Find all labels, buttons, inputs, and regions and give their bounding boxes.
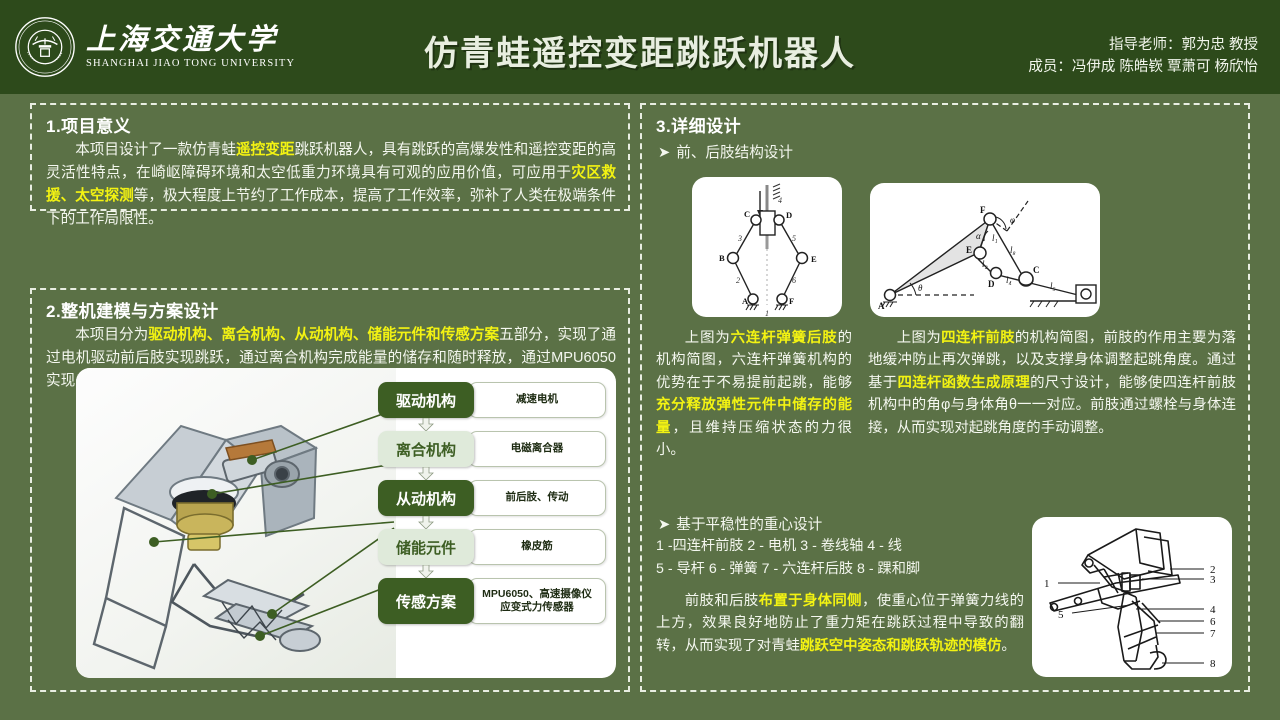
bullet-2-label: 基于平稳性的重心设计 <box>676 517 822 533</box>
svg-text:A: A <box>742 296 749 306</box>
svg-text:F: F <box>789 296 794 306</box>
s3-bottom-c: 。 <box>1001 638 1015 654</box>
flow-row-4: 储能元件 橡皮筋 <box>378 529 606 565</box>
leg-assembly-diagram: 1 2 3 4 5 6 7 8 <box>1032 517 1232 677</box>
leg-callout-6: 6 <box>1210 616 1216 628</box>
s3-bottom-hl1: 布置于身体同侧 <box>759 593 862 609</box>
bullet-arrow-icon-2: ➤ <box>658 517 670 533</box>
s3-right-hl1: 四连杆前肢 <box>941 330 1015 346</box>
svg-text:l₁: l₁ <box>992 233 998 243</box>
svg-text:E: E <box>966 245 972 255</box>
section-2-heading: 2.整机建模与方案设计 <box>32 290 628 322</box>
leg-callout-4: 4 <box>1210 604 1216 616</box>
section-3-bullet-2: ➤基于平稳性的重心设计 <box>642 509 822 534</box>
six-bar-drawing: CD BE AF 4 35 26 1 <box>692 177 842 317</box>
leg-callout-3: 3 <box>1210 574 1216 586</box>
credits-block: 指导老师：郭为忠 教授 成员：冯伊成 陈皓嵚 覃萧可 杨欣怡 <box>1028 34 1258 79</box>
section-1-body: 本项目设计了一款仿青蛙遥控变距跳跃机器人，具有跳跃的高爆发性和遥控变距的高灵活性… <box>32 137 628 231</box>
svg-text:α: α <box>976 231 981 241</box>
s3-bottom-hl2: 跳跃空中姿态和跳跃轨迹的模仿 <box>800 638 1001 654</box>
flow-stage-detail-3: 前后肢、传动 <box>468 480 606 516</box>
svg-text:C: C <box>1033 265 1040 275</box>
svg-text:2: 2 <box>736 276 740 285</box>
section-3-panel: 3.详细设计 ➤前、后肢结构设计 <box>640 103 1250 692</box>
svg-text:φ: φ <box>1010 215 1015 225</box>
system-flowchart: 驱动机构 减速电机 离合机构 电磁离合器 从动机构 前后肢、传动 <box>378 382 606 637</box>
robot-render-drawing <box>76 368 396 678</box>
svg-text:E: E <box>811 254 817 264</box>
flow-arrow-icon-2 <box>418 467 434 480</box>
svg-text:5: 5 <box>792 234 796 243</box>
svg-text:θ: θ <box>918 283 923 293</box>
svg-text:C: C <box>744 209 750 219</box>
svg-text:4: 4 <box>778 196 782 205</box>
flow-arrow-icon-4 <box>418 565 434 578</box>
s1-text-a: 本项目设计了一款仿青蛙 <box>75 142 236 158</box>
section-1-heading: 1.项目意义 <box>32 105 628 137</box>
advisor-line: 指导老师：郭为忠 教授 <box>1028 34 1258 56</box>
s3-left-a: 上图为 <box>685 330 731 346</box>
university-logo: 上海交通大学 SHANGHAI JIAO TONG UNIVERSITY <box>0 16 295 78</box>
six-bar-description: 上图为六连杆弹簧后肢的机构简图，六连杆弹簧机构的优势在于不易提前起跳，能够充分释… <box>656 327 852 462</box>
four-bar-drawing: A F E D C φ θ α l₁ l₂ l₄ l₅ l₈ <box>870 183 1100 317</box>
sjtu-seal-icon <box>14 16 76 78</box>
section-3-bullet-1: ➤前、后肢结构设计 <box>642 137 1248 162</box>
svg-text:D: D <box>786 210 792 220</box>
poster-header: 上海交通大学 SHANGHAI JIAO TONG UNIVERSITY 仿青蛙… <box>0 0 1280 94</box>
flow-row-3: 从动机构 前后肢、传动 <box>378 480 606 516</box>
leg-callout-7: 7 <box>1210 628 1216 640</box>
leg-callout-8: 8 <box>1210 658 1216 670</box>
robot-3d-render <box>76 368 396 678</box>
svg-text:A: A <box>878 301 885 311</box>
s3-right-hl2: 四连杆函数生成原理 <box>897 375 1030 391</box>
flow-stage-name-5: 传感方案 <box>378 578 474 624</box>
flow-row-5: 传感方案 MPU6050、高速摄像仪 应变式力传感器 <box>378 578 606 624</box>
bullet-1-label: 前、后肢结构设计 <box>676 145 793 161</box>
poster-root: 上海交通大学 SHANGHAI JIAO TONG UNIVERSITY 仿青蛙… <box>0 0 1280 720</box>
svg-text:3: 3 <box>737 234 742 243</box>
flow-stage-detail-1: 减速电机 <box>468 382 606 418</box>
s3-right-a: 上图为 <box>897 330 941 346</box>
section-2-panel: 2.整机建模与方案设计 本项目分为驱动机构、离合机构、从动机构、储能元件和传感方… <box>30 288 630 692</box>
s2-text-a: 本项目分为 <box>75 327 148 343</box>
members-line: 成员：冯伊成 陈皓嵚 覃萧可 杨欣怡 <box>1028 56 1258 78</box>
flow-stage-detail-2: 电磁离合器 <box>468 431 606 467</box>
s1-highlight-1: 遥控变距 <box>236 142 294 158</box>
four-bar-description: 上图为四连杆前肢的机构简图，前肢的作用主要为落地缓冲防止再次弹跳，以及支撑身体调… <box>868 327 1236 439</box>
flow-stage-name-2: 离合机构 <box>378 431 474 467</box>
legend-line-1: 1 -四连杆前肢 2 - 电机 3 - 卷线轴 4 - 线 <box>656 535 1024 558</box>
flow-row-1: 驱动机构 减速电机 <box>378 382 606 418</box>
six-bar-linkage-diagram: CD BE AF 4 35 26 1 <box>692 177 842 317</box>
s3-left-c: ，且维持压缩状态的力很小。 <box>656 420 852 458</box>
legend-line-2: 5 - 导杆 6 - 弹簧 7 - 六连杆后肢 8 - 踝和脚 <box>656 558 1024 581</box>
s3-left-hl1: 六连杆弹簧后肢 <box>731 330 838 346</box>
svg-text:F: F <box>980 205 986 215</box>
s3-bottom-a: 前肢和后肢 <box>685 593 759 609</box>
flow-stage-name-3: 从动机构 <box>378 480 474 516</box>
flow-arrow-icon-1 <box>418 418 434 431</box>
page-title: 仿青蛙遥控变距跳跃机器人 <box>360 26 920 75</box>
svg-text:D: D <box>988 279 995 289</box>
flow-stage-name-1: 驱动机构 <box>378 382 474 418</box>
flow-arrow-icon-3 <box>418 516 434 529</box>
svg-text:1: 1 <box>765 309 769 317</box>
leg-callout-1: 1 <box>1044 578 1050 590</box>
center-of-mass-description: 前肢和后肢布置于身体同侧，使重心位于弹簧力线的上方，效果良好地防止了重力矩在跳跃… <box>656 590 1024 657</box>
four-bar-linkage-diagram: A F E D C φ θ α l₁ l₂ l₄ l₅ l₈ <box>870 183 1100 317</box>
svg-text:l₄: l₄ <box>1006 275 1012 285</box>
university-name-en: SHANGHAI JIAO TONG UNIVERSITY <box>86 58 295 69</box>
flow-stage-name-4: 储能元件 <box>378 529 474 565</box>
leg-assembly-drawing: 1 2 3 4 5 6 7 8 <box>1032 517 1232 677</box>
leg-parts-legend: 1 -四连杆前肢 2 - 电机 3 - 卷线轴 4 - 线 5 - 导杆 6 -… <box>656 535 1024 580</box>
svg-text:B: B <box>719 253 725 263</box>
svg-text:6: 6 <box>792 276 796 285</box>
section-2-graphic: 驱动机构 减速电机 离合机构 电磁离合器 从动机构 前后肢、传动 <box>76 368 616 678</box>
leg-callout-5: 5 <box>1058 609 1064 621</box>
flow-stage-detail-4: 橡皮筋 <box>468 529 606 565</box>
university-name-cn: 上海交通大学 <box>86 25 295 55</box>
section-1-panel: 1.项目意义 本项目设计了一款仿青蛙遥控变距跳跃机器人，具有跳跃的高爆发性和遥控… <box>30 103 630 211</box>
flow-stage-detail-5: MPU6050、高速摄像仪 应变式力传感器 <box>468 578 606 624</box>
section-3-heading: 3.详细设计 <box>642 105 1248 137</box>
svg-text:l₈: l₈ <box>1010 245 1016 255</box>
svg-text:l₂: l₂ <box>982 259 988 269</box>
svg-text:l₅: l₅ <box>1050 281 1056 291</box>
s2-highlight-1: 驱动机构、离合机构、从动机构、储能元件和传感方案 <box>148 327 499 343</box>
bullet-arrow-icon-1: ➤ <box>658 145 670 161</box>
flow-row-2: 离合机构 电磁离合器 <box>378 431 606 467</box>
